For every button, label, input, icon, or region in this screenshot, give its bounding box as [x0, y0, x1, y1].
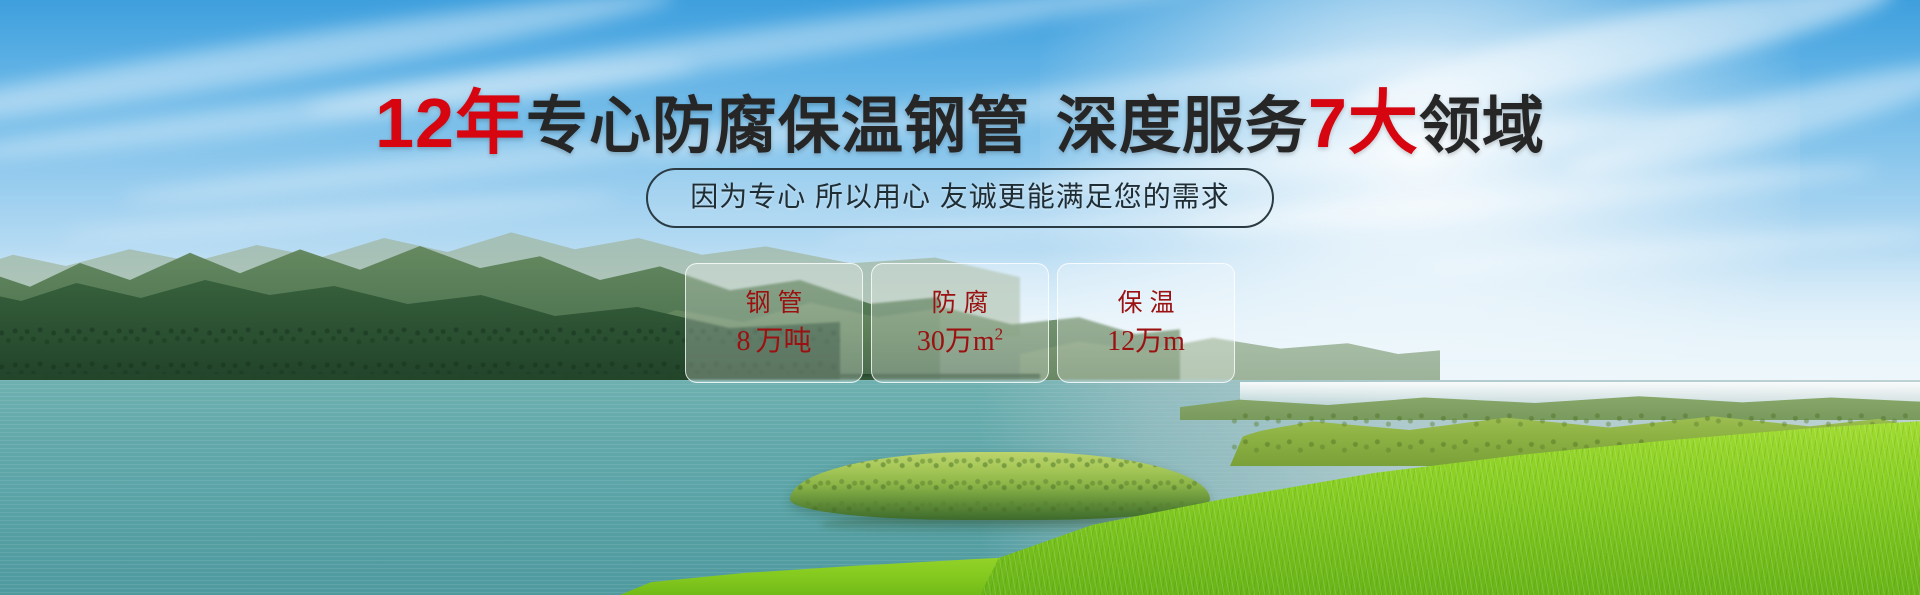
stat-card-anticorrosion[interactable]: 防腐 30万m2 [871, 263, 1049, 383]
stat-card-value: 8万吨 [736, 328, 811, 356]
stat-card-insulation[interactable]: 保温 12万m [1057, 263, 1235, 383]
hero-banner: 12年专心防腐保温钢管深度服务7大领域 因为专心 所以用心 友诚更能满足您的需求… [0, 0, 1920, 595]
headline-service-text: 深度服务 [1056, 92, 1308, 161]
stat-card-value: 12万m [1107, 328, 1185, 356]
banner-headline: 12年专心防腐保温钢管深度服务7大领域 [0, 88, 1920, 158]
stat-card-steel-pipe[interactable]: 钢管 8万吨 [685, 263, 863, 383]
stat-value-number: 8 [736, 326, 750, 357]
stat-value-unit: 万吨 [755, 326, 811, 357]
headline-seven-highlight: 7大 [1308, 84, 1419, 162]
stat-card-group: 钢管 8万吨 防腐 30万m2 保温 12万m [0, 263, 1920, 383]
stat-card-label: 保温 [1110, 291, 1181, 316]
stat-card-value: 30万m2 [917, 328, 1003, 356]
headline-fields-text: 领域 [1419, 92, 1545, 161]
banner-subtitle-pill: 因为专心 所以用心 友诚更能满足您的需求 [646, 168, 1274, 228]
stat-value-unit: 万m [945, 326, 995, 357]
stat-value-superscript: 2 [995, 324, 1004, 343]
stat-value-number: 12 [1107, 326, 1135, 357]
stat-value-unit: 万m [1135, 326, 1185, 357]
banner-subtitle-wrapper: 因为专心 所以用心 友诚更能满足您的需求 [0, 168, 1920, 228]
stat-card-label: 防腐 [924, 291, 995, 316]
stat-card-label: 钢管 [738, 291, 809, 316]
stat-value-number: 30 [917, 326, 945, 357]
headline-years-highlight: 12年 [375, 84, 526, 162]
headline-main-text: 专心防腐保温钢管 [526, 92, 1030, 161]
